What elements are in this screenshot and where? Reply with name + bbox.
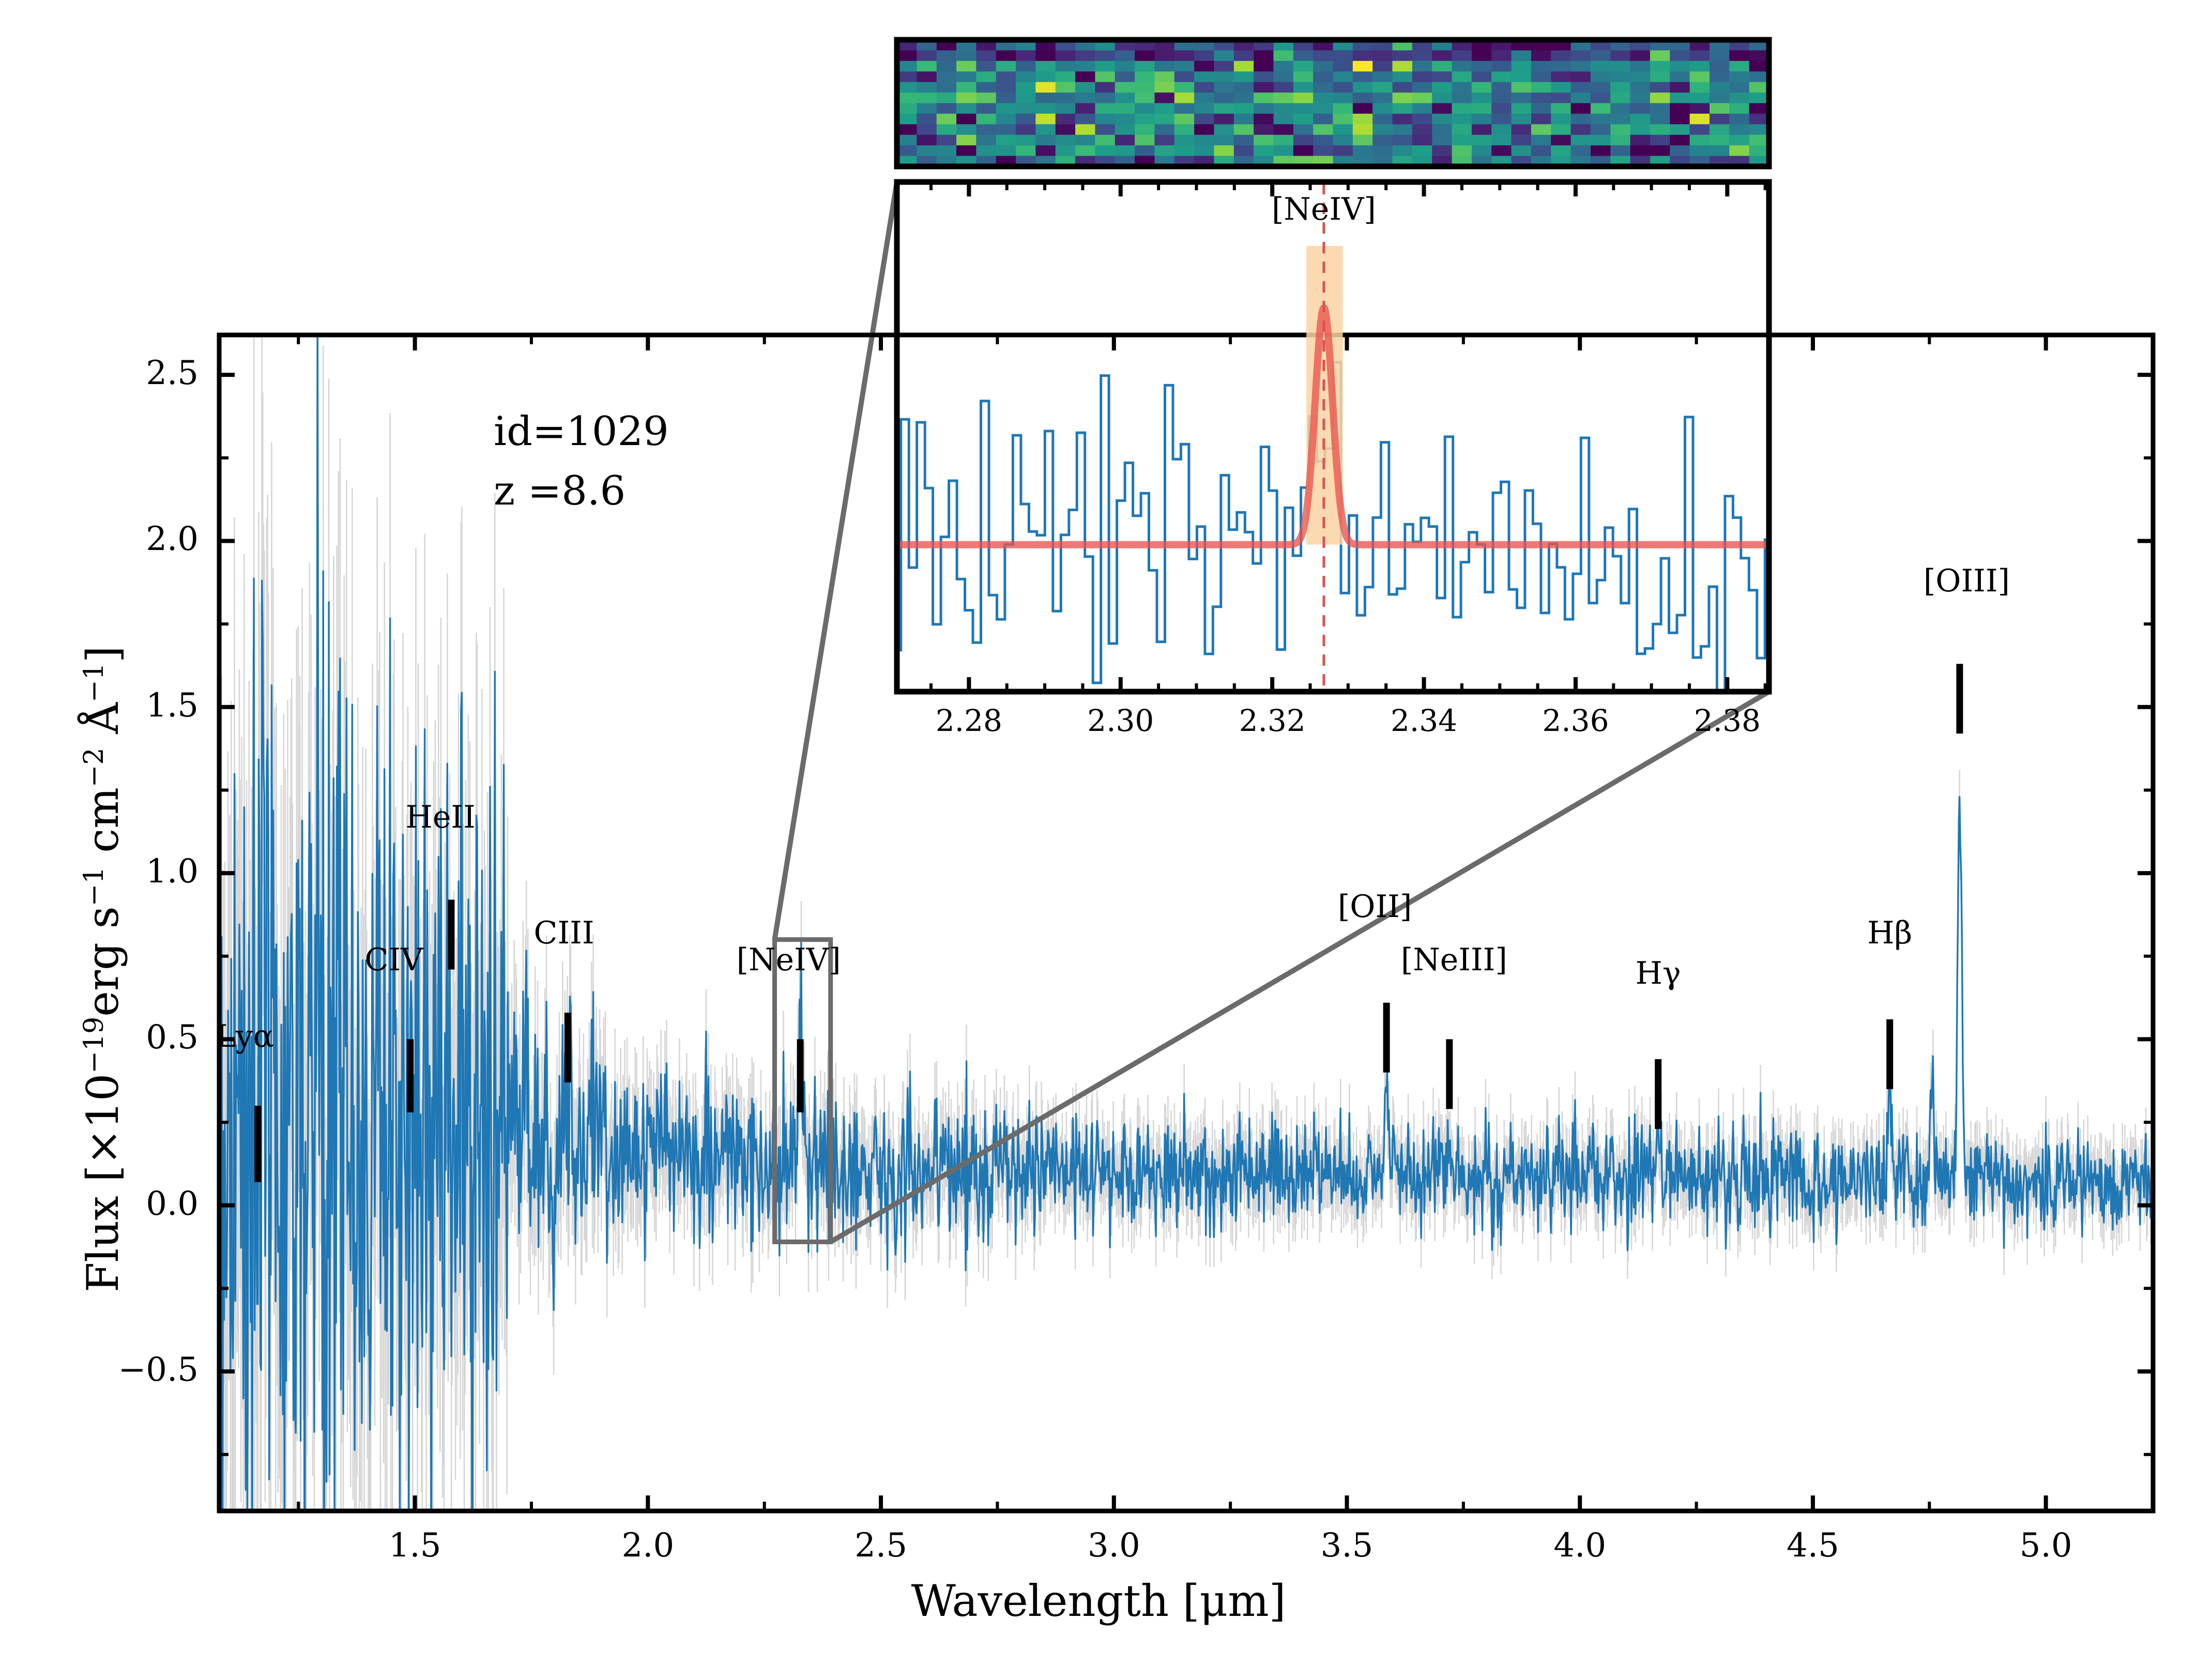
emission-line-label: Hγ [1581,955,1736,991]
inset-x-tick-label: 2.36 [1519,703,1633,738]
x-tick-label: 2.0 [591,1526,705,1565]
y-axis-label: Flux [×10−19erg s−1 cm−2 Å−1] [78,646,128,1292]
emission-line-label: Lyα [167,1018,323,1055]
emission-line-label: Hβ [1812,915,1967,951]
y-tick-label: 2.0 [64,520,199,558]
inset-x-tick-label: 2.30 [1064,703,1178,738]
emission-line-label: CIV [316,942,471,978]
x-tick-label: 1.5 [358,1526,472,1565]
emission-line-label: [NeIII] [1377,942,1532,978]
emission-line-label: [OII] [1298,889,1453,925]
spectrum-figure: 2.52.01.51.00.50.0−0.51.52.02.53.03.54.0… [0,0,2197,1680]
x-tick-label: 2.5 [824,1526,938,1565]
inset-emission-line-label: [NeIV] [1246,191,1401,227]
flux-error-band [219,58,2153,1680]
inset-1d-spectrum [897,183,1769,694]
emission-line-label: [OIII] [1889,563,2044,599]
y-tick-label: 2.5 [64,354,199,392]
x-tick-label: 3.0 [1057,1526,1171,1565]
x-tick-label: 5.0 [1989,1526,2103,1565]
emission-line-label: CIII [486,915,642,951]
x-tick-label: 4.0 [1523,1526,1637,1565]
inset-x-tick-label: 2.32 [1215,703,1329,738]
inset-x-tick-label: 2.34 [1367,703,1481,738]
annotation-id: id=1029 [494,408,669,455]
inset-x-tick-label: 2.28 [912,703,1026,738]
annotation-redshift: z =8.6 [494,468,625,514]
x-tick-label: 3.5 [1290,1526,1403,1565]
inset-2d-spectrum [897,40,1769,167]
x-axis-label: Wavelength [μm] [0,1576,2197,1626]
emission-line-label: HeII [363,799,518,835]
x-tick-label: 4.5 [1756,1526,1870,1565]
inset-x-tick-label: 2.38 [1670,703,1784,738]
emission-line-label: [NeIV] [711,942,866,978]
y-tick-label: −0.5 [64,1351,199,1389]
